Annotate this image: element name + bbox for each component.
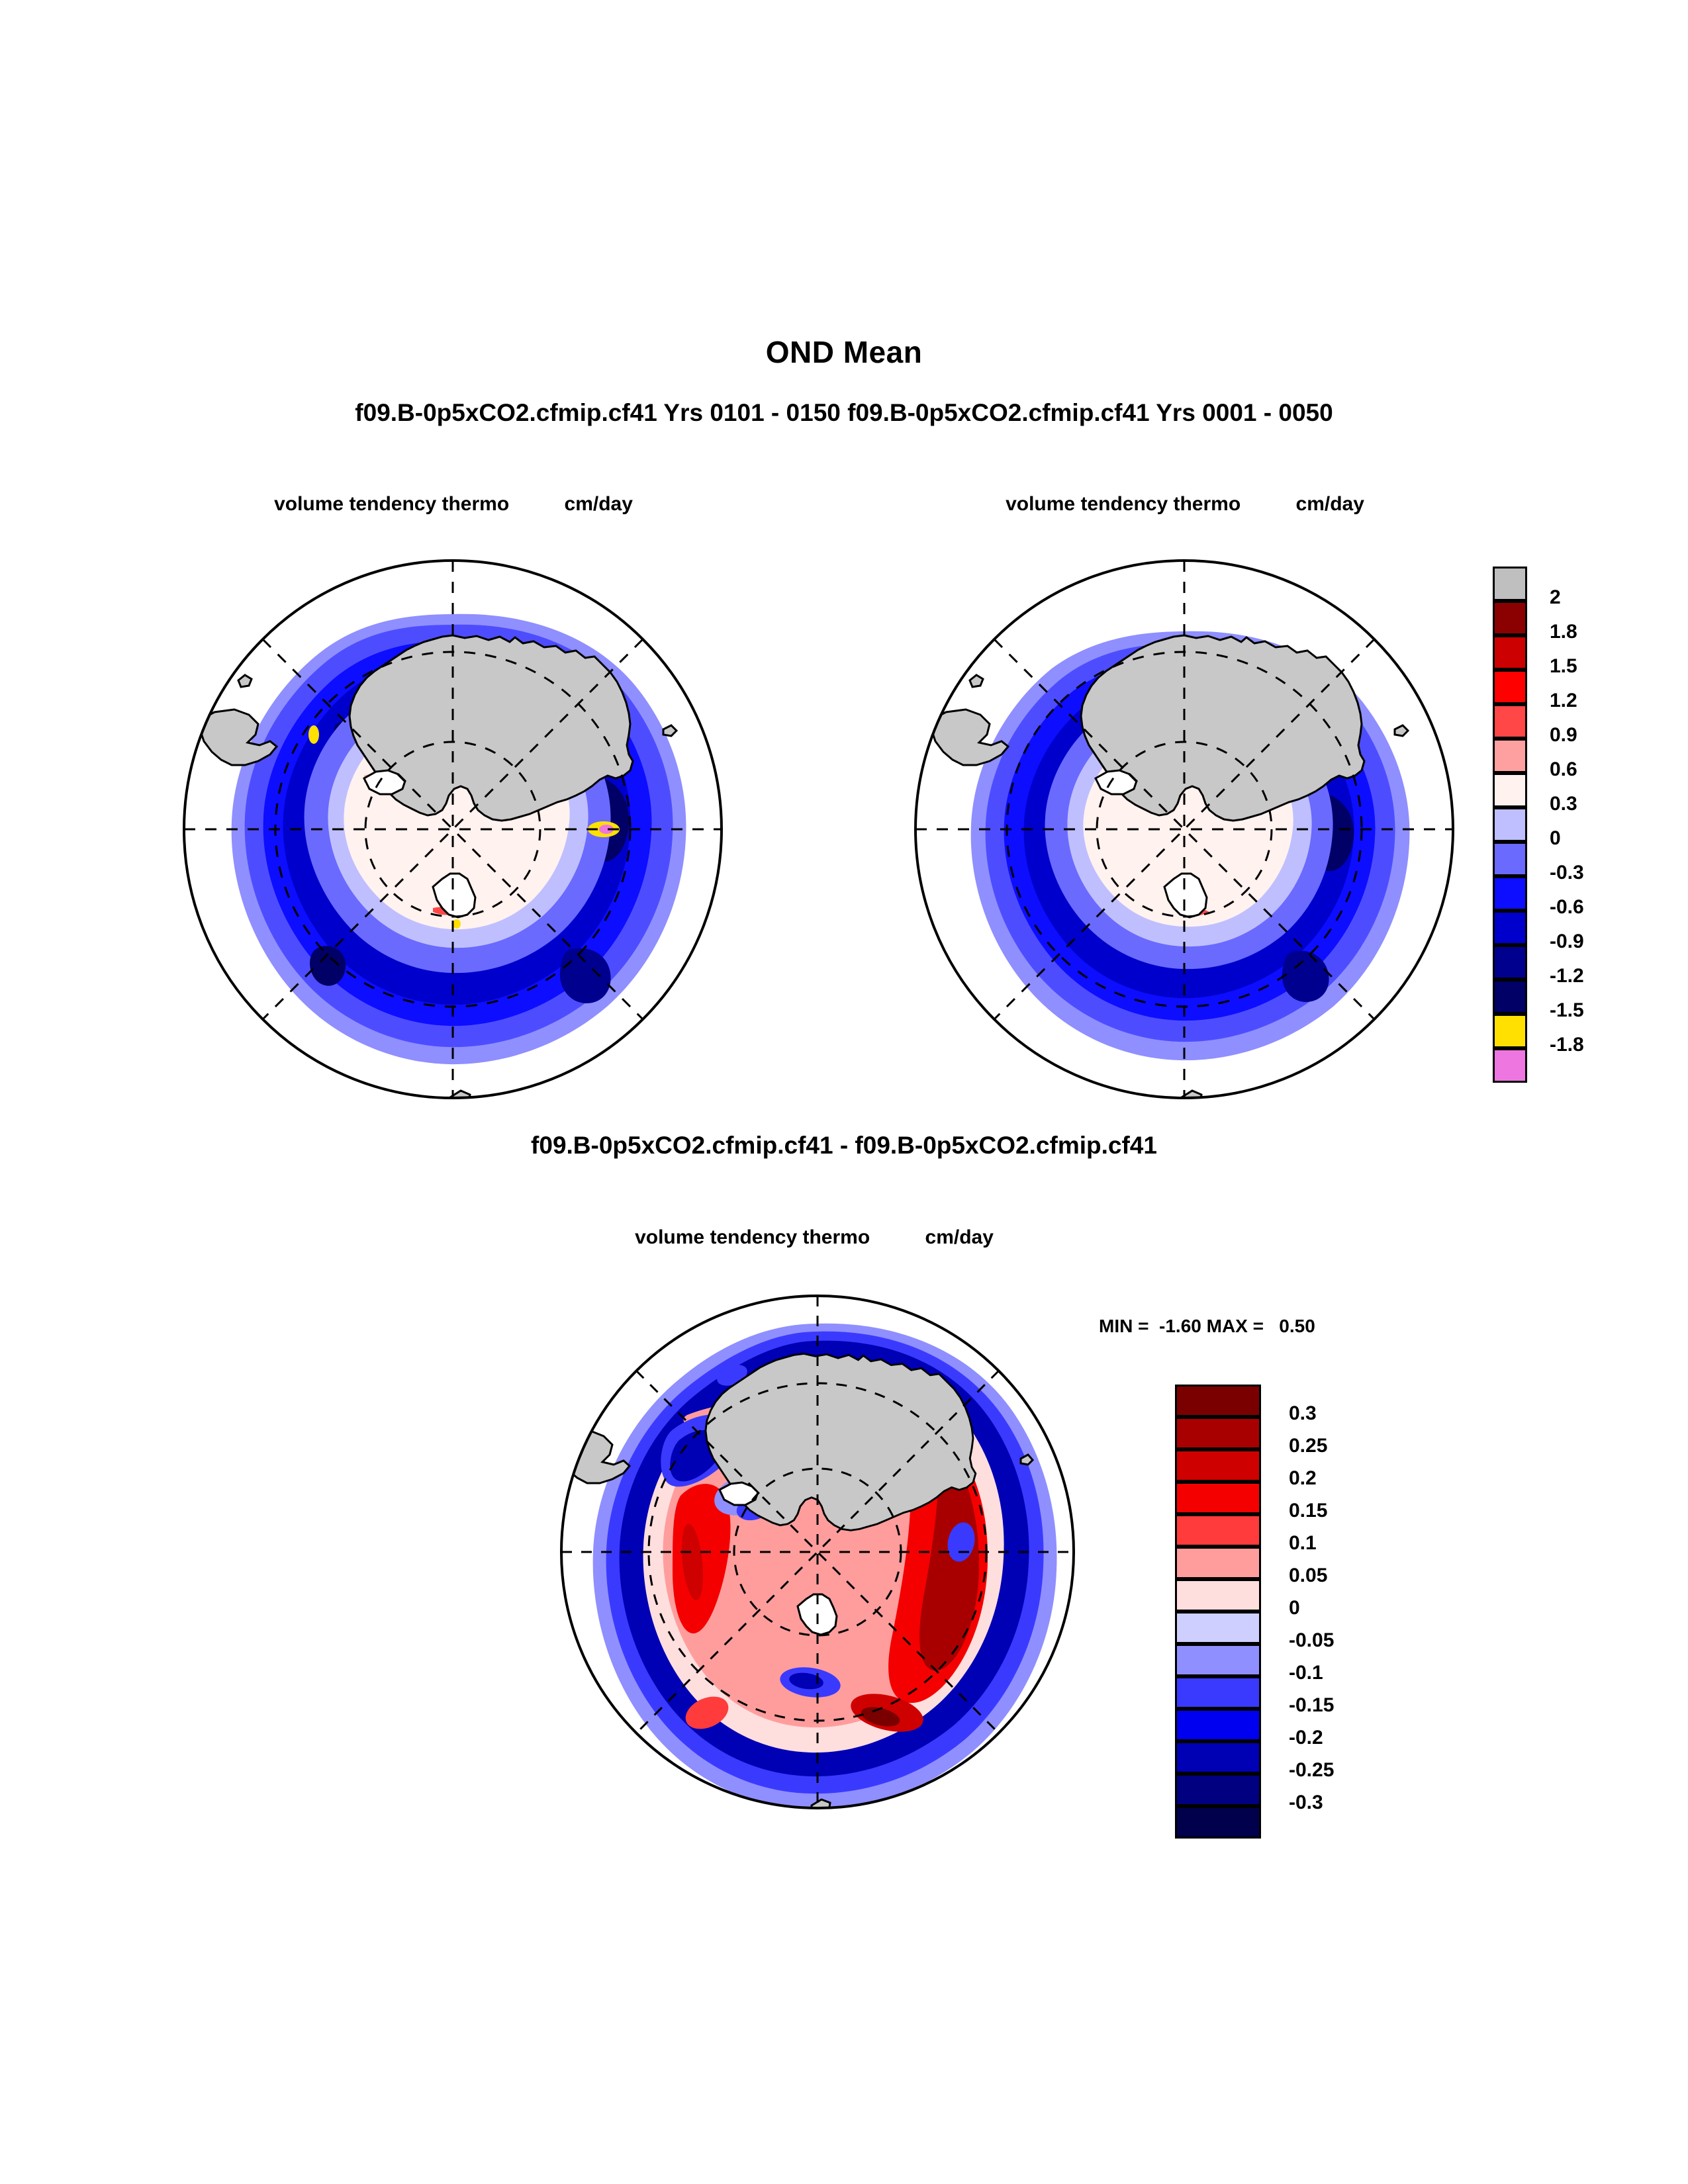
map-panel-right (897, 543, 1473, 1125)
panel-label-right: volume tendency thermo cm/day (914, 493, 1456, 516)
colorbar-swatch (1493, 567, 1527, 601)
figure-page: OND Mean f09.B-0p5xCO2.cfmip.cf41 Yrs 01… (0, 0, 1688, 2184)
colorbar-swatch (1493, 773, 1527, 807)
map-panel-left (165, 543, 741, 1125)
colorbar-swatch (1493, 601, 1527, 635)
colorbar-swatch (1175, 1417, 1261, 1449)
colorbar-swatch (1493, 911, 1527, 945)
colorbar-swatch (1493, 704, 1527, 739)
colorbar-tick-label: 0.1 (1289, 1532, 1317, 1555)
colorbar-swatch (1493, 979, 1527, 1014)
extreme-spot-yellow-4 (453, 919, 461, 929)
colorbar-swatch (1175, 1806, 1261, 1839)
colorbar-swatch (1175, 1579, 1261, 1612)
colorbar-swatch (1493, 1014, 1527, 1048)
colorbar-swatch (1175, 1709, 1261, 1741)
colorbar-tick-label: -0.3 (1289, 1792, 1323, 1814)
colorbar-swatch (1175, 1449, 1261, 1482)
colorbar-swatch (1493, 739, 1527, 773)
colorbar-tick-label: 2 (1550, 586, 1561, 609)
page-title: OND Mean (0, 334, 1688, 370)
colorbar-swatch (1493, 945, 1527, 979)
colorbar-tick-label: 0 (1289, 1597, 1300, 1619)
colorbar-swatch (1493, 807, 1527, 842)
colorbar-tick-label: -1.2 (1550, 965, 1584, 987)
panel-label-left: volume tendency thermo cm/day (182, 493, 725, 516)
colorbar-tick-label: -1.5 (1550, 999, 1584, 1022)
colorbar-swatch (1175, 1547, 1261, 1579)
colorbar-difference: 0.30.250.20.150.10.050-0.05-0.1-0.15-0.2… (1175, 1385, 1261, 1839)
colorbar-swatch (1175, 1514, 1261, 1547)
colorbar-swatch (1175, 1612, 1261, 1644)
colorbar-tick-label: 1.2 (1550, 690, 1577, 712)
colorbar-swatch (1493, 670, 1527, 704)
colorbar-tick-label: 0.3 (1289, 1402, 1317, 1425)
colorbar-swatch (1175, 1741, 1261, 1774)
colorbar-tick-label: -0.2 (1289, 1727, 1323, 1749)
colorbar-absolute: 21.81.51.20.90.60.30-0.3-0.6-0.9-1.2-1.5… (1493, 567, 1527, 1083)
minmax-annotation: MIN = -1.60 MAX = 0.50 (1099, 1316, 1315, 1337)
colorbar-swatch (1493, 842, 1527, 876)
polar-map-right (897, 543, 1473, 1125)
colorbar-tick-label: 0.25 (1289, 1435, 1327, 1457)
colorbar-tick-label: -0.3 (1550, 862, 1584, 884)
colorbar-tick-label: -0.9 (1550, 931, 1584, 953)
colorbar-tick-label: -0.15 (1289, 1694, 1334, 1717)
extreme-spot-yellow-3 (308, 725, 319, 744)
map-panel-diff (543, 1277, 1092, 1833)
colorbar-swatch (1175, 1676, 1261, 1709)
colorbar-swatch (1175, 1644, 1261, 1676)
diff-panel-title: f09.B-0p5xCO2.cfmip.cf41 - f09.B-0p5xCO2… (0, 1132, 1688, 1160)
colorbar-tick-label: 0.9 (1550, 724, 1577, 747)
figure-subtitle: f09.B-0p5xCO2.cfmip.cf41 Yrs 0101 - 0150… (0, 399, 1688, 427)
colorbar-tick-label: -0.6 (1550, 896, 1584, 919)
colorbar-tick-label: 0.3 (1550, 793, 1577, 815)
colorbar-swatch (1175, 1774, 1261, 1806)
colorbar-tick-label: -1.8 (1550, 1034, 1584, 1056)
colorbar-swatch (1493, 876, 1527, 911)
polar-map-left (165, 543, 741, 1125)
colorbar-tick-label: 0 (1550, 827, 1561, 850)
colorbar-tick-label: 0.6 (1550, 758, 1577, 781)
colorbar-tick-label: 0.15 (1289, 1500, 1327, 1522)
colorbar-tick-label: -0.05 (1289, 1629, 1334, 1652)
colorbar-tick-label: 1.5 (1550, 655, 1577, 678)
colorbar-swatch (1493, 635, 1527, 670)
colorbar-swatch (1175, 1482, 1261, 1514)
colorbar-swatch (1493, 1048, 1527, 1083)
colorbar-tick-label: 1.8 (1550, 621, 1577, 643)
colorbar-tick-label: 0.2 (1289, 1467, 1317, 1490)
colorbar-tick-label: -0.1 (1289, 1662, 1323, 1684)
colorbar-swatch (1175, 1385, 1261, 1417)
panel-label-diff: volume tendency thermo cm/day (543, 1226, 1086, 1249)
colorbar-tick-label: 0.05 (1289, 1565, 1327, 1587)
polar-map-diff (543, 1277, 1092, 1833)
colorbar-tick-label: -0.25 (1289, 1759, 1334, 1782)
